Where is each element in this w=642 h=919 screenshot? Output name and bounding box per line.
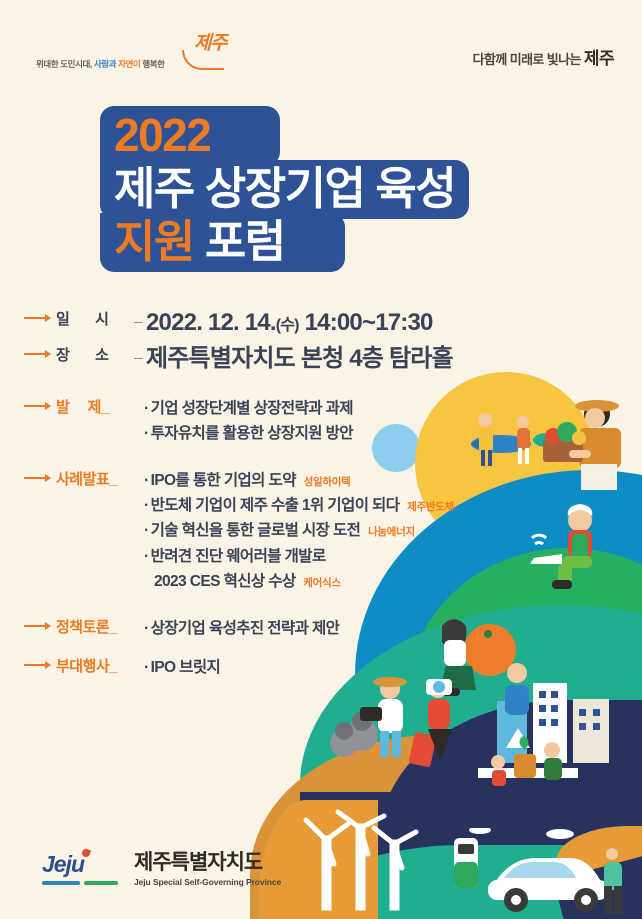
bullet-icon: · bbox=[144, 425, 149, 442]
bullet-icon: · bbox=[144, 659, 149, 676]
green-foreground-shape bbox=[280, 845, 642, 919]
logo-bar-blue bbox=[42, 881, 80, 885]
corner-tan-shape bbox=[556, 826, 642, 886]
slogan-right-text: 다함께 미래로 빛나는 bbox=[473, 52, 581, 67]
organization-names: 제주특별자치도 Jeju Special Self-Governing Prov… bbox=[134, 851, 281, 886]
detail-row-venue: 장 소 _ 제주특별자치도 본청 4층 탐라홀 bbox=[24, 344, 564, 374]
bullet-icon: · bbox=[144, 497, 149, 514]
label-text: 부대행사 bbox=[56, 658, 109, 675]
detail-value-datetime: 2022. 12. 14.(수) 14:00~17:30 bbox=[142, 308, 564, 338]
title-line-2: 제주 상장기업 육성 bbox=[100, 160, 469, 219]
list-item: ·IPO를 통한 기업의 도약 성일하이텍 bbox=[144, 468, 564, 493]
label-char-a: 발 bbox=[56, 399, 69, 416]
title-line-3: 지원 포럼 bbox=[100, 213, 345, 272]
program-row-side-event: 부대행사_ ·IPO 브릿지 bbox=[24, 655, 564, 680]
list-item-text: 상장기업 육성추진 전략과 제안 bbox=[151, 620, 340, 637]
list-item-text: 투자유치를 활용한 상장지원 방안 bbox=[151, 425, 353, 442]
title-year: 2022 bbox=[100, 106, 280, 166]
footer-organization: Jeju 제주특별자치도 Jeju Special Self-Governing… bbox=[42, 849, 281, 889]
label-underscore: _ bbox=[109, 619, 117, 636]
jeju-logo-text: Jeju bbox=[42, 851, 84, 878]
company-name: 나눔에너지 bbox=[368, 526, 415, 538]
list-item-text: 반려견 진단 웨어러블 개발로 bbox=[151, 548, 326, 565]
slogan-right: 다함께 미래로 빛나는 제주 bbox=[473, 44, 614, 69]
detail-value-venue: 제주특별자치도 본청 4층 탐라홀 bbox=[142, 344, 564, 374]
bullet-icon: · bbox=[144, 472, 149, 489]
arrow-icon bbox=[24, 317, 50, 319]
list-item: ·상장기업 육성추진 전략과 제안 bbox=[144, 616, 564, 641]
event-venue: 제주특별자치도 본청 4층 탐라홀 bbox=[146, 345, 453, 372]
organization-name-kr: 제주특별자치도 bbox=[134, 851, 281, 874]
slogan-word-2: 도민시대, bbox=[60, 59, 92, 69]
list-item-text: 2023 CES 혁신상 수상 bbox=[154, 573, 296, 590]
list-item-text: IPO 브릿지 bbox=[151, 659, 221, 676]
list-item: ·반려견 진단 웨어러블 개발로 bbox=[144, 544, 564, 569]
label-char-a: 장 bbox=[56, 344, 69, 365]
bullet-icon: · bbox=[144, 400, 149, 417]
organization-name-en: Jeju Special Self-Governing Province bbox=[134, 877, 281, 887]
program-row-case-study: 사례발표_ ·IPO를 통한 기업의 도약 성일하이텍 ·반도체 기업이 제주 … bbox=[24, 468, 564, 594]
label-underscore: _ bbox=[134, 344, 142, 365]
event-poster: 위대한 도민시대, 사람과 자연이 행복한 제주 다함께 미래로 빛나는 제주 … bbox=[0, 0, 642, 919]
company-name: 케어식스 bbox=[303, 577, 340, 589]
list-item: ·기술 혁신을 통한 글로벌 시장 도전 나눔에너지 bbox=[144, 518, 564, 543]
list-item: ·반도체 기업이 제주 수출 1위 기업이 되다 제주반도체 bbox=[144, 493, 564, 518]
event-weekday: (수) bbox=[276, 317, 299, 334]
list-item-text: 반도체 기업이 제주 수출 1위 기업이 되다 bbox=[151, 497, 400, 514]
detail-label-datetime: 일 시 _ bbox=[50, 308, 142, 329]
corner-navy-shape bbox=[553, 846, 642, 919]
slogan-right-mark: 제주 bbox=[584, 49, 614, 68]
label-underscore: _ bbox=[109, 658, 117, 675]
program-label-case-study: 사례발표_ bbox=[50, 468, 140, 489]
program-label-presentation: 발 제_ bbox=[50, 396, 140, 417]
arrow-icon bbox=[24, 405, 50, 407]
slogan-word-5: 행복한 bbox=[142, 59, 164, 69]
program-items-side-event: ·IPO 브릿지 bbox=[140, 655, 564, 680]
electric-vehicle-charging-icon bbox=[440, 828, 640, 919]
arrow-icon bbox=[24, 353, 50, 355]
program-items-policy-discussion: ·상장기업 육성추진 전략과 제안 bbox=[140, 616, 564, 641]
bullet-icon: · bbox=[144, 620, 149, 637]
program-row-policy-discussion: 정책토론_ ·상장기업 육성추진 전략과 제안 bbox=[24, 616, 564, 641]
family-with-plant-icon bbox=[468, 716, 588, 806]
list-item-text: 기업 성장단계별 상장전략과 과제 bbox=[151, 400, 353, 417]
poster-title: 2022 제주 상장기업 육성 지원 포럼 bbox=[100, 106, 570, 266]
navy-ground-shape bbox=[300, 792, 642, 919]
title-line-3-a: 지원 bbox=[114, 216, 194, 267]
jeju-slogan-logo: 위대한 도민시대, 사람과 자연이 행복한 제주 bbox=[36, 34, 226, 74]
arrow-icon bbox=[24, 477, 50, 479]
label-char-b: 제 bbox=[88, 399, 101, 416]
bullet-icon: · bbox=[144, 522, 149, 539]
list-item-continuation: 2023 CES 혁신상 수상 케어식스 bbox=[144, 569, 564, 594]
label-underscore: _ bbox=[101, 399, 109, 416]
jeju-swoosh-decor bbox=[182, 50, 224, 70]
list-item: ·기업 성장단계별 상장전략과 과제 bbox=[144, 396, 564, 421]
company-name: 성일하이텍 bbox=[304, 476, 351, 488]
logo-bar-green bbox=[84, 881, 118, 885]
bullet-icon: · bbox=[144, 548, 149, 565]
title-line-3-b: 포럼 bbox=[205, 216, 285, 267]
sand-dune-shape bbox=[250, 735, 580, 919]
navy-sea-shape bbox=[380, 700, 642, 919]
list-item: ·투자유치를 활용한 상장지원 방안 bbox=[144, 421, 564, 446]
label-char-b: 시 bbox=[95, 308, 108, 329]
list-item-text: 기술 혁신을 통한 글로벌 시장 도전 bbox=[151, 522, 361, 539]
label-underscore: _ bbox=[134, 308, 142, 329]
label-text: 사례발표 bbox=[56, 471, 109, 488]
company-name: 제주반도체 bbox=[407, 501, 454, 513]
program-label-side-event: 부대행사_ bbox=[50, 655, 140, 676]
event-details: 일 시 _ 2022. 12. 14.(수) 14:00~17:30 장 소 _… bbox=[24, 308, 564, 686]
event-time: 14:00~17:30 bbox=[305, 309, 433, 336]
program-label-policy-discussion: 정책토론_ bbox=[50, 616, 140, 637]
label-char-b: 소 bbox=[95, 344, 108, 365]
slogan-word-1: 위대한 bbox=[36, 59, 58, 69]
label-char-a: 일 bbox=[56, 308, 69, 329]
detail-label-venue: 장 소 _ bbox=[50, 344, 142, 365]
program-items-case-study: ·IPO를 통한 기업의 도약 성일하이텍 ·반도체 기업이 제주 수출 1위 … bbox=[140, 468, 564, 594]
program-row-presentation: 발 제_ ·기업 성장단계별 상장전략과 과제 ·투자유치를 활용한 상장지원 … bbox=[24, 396, 564, 446]
datetime-line: 2022. 12. 14.(수) 14:00~17:30 bbox=[146, 309, 433, 336]
event-date: 2022. 12. 14. bbox=[146, 309, 276, 336]
slogan-left-text: 위대한 도민시대, 사람과 자연이 행복한 bbox=[36, 58, 165, 70]
detail-row-datetime: 일 시 _ 2022. 12. 14.(수) 14:00~17:30 bbox=[24, 308, 564, 338]
slogan-word-3: 사람과 bbox=[94, 59, 116, 69]
slogan-word-4: 자연이 bbox=[118, 59, 140, 69]
jeju-logo: Jeju bbox=[42, 849, 120, 889]
label-text: 정책토론 bbox=[56, 619, 109, 636]
label-underscore: _ bbox=[109, 471, 117, 488]
program-items-presentation: ·기업 성장단계별 상장전략과 과제 ·투자유치를 활용한 상장지원 방안 bbox=[140, 396, 564, 446]
wind-turbines-icon bbox=[300, 808, 420, 918]
list-item: ·IPO 브릿지 bbox=[144, 655, 564, 680]
arrow-icon bbox=[24, 625, 50, 627]
arrow-icon bbox=[24, 664, 50, 666]
list-item-text: IPO를 통한 기업의 도약 bbox=[151, 472, 296, 489]
